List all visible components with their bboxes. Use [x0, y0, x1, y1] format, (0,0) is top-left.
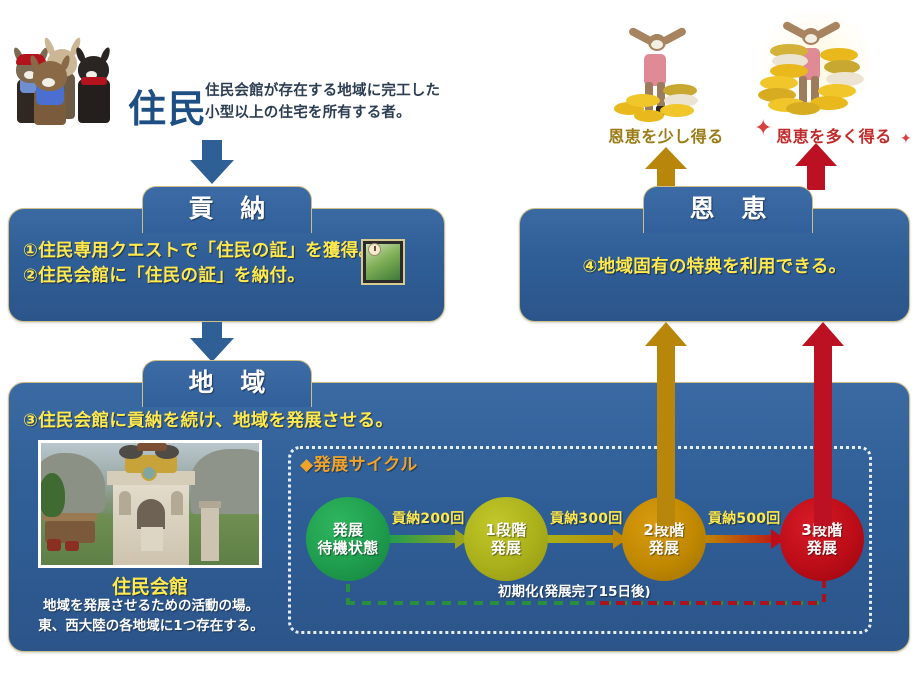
cycle-node-stage2-line2: 発展: [643, 539, 684, 557]
hall-description-line2: 東、西大陸の各地域に1つ存在する。: [26, 616, 276, 636]
mascot-brown: [28, 55, 72, 125]
resident-mascots-image: [6, 30, 146, 125]
residents-description-line2: 小型以上の住宅を所有する者。: [205, 102, 450, 124]
arrow-benefit-to-large-reward: [795, 143, 837, 190]
region-step-3: ③住民会館に貢納を続け、地域を発展させる。: [23, 409, 623, 434]
section-header-region: 地 域: [142, 360, 312, 407]
tribute-step-1: ①住民専用クエストで「住民の証」を獲得。: [23, 239, 383, 264]
cycle-reset-line-red: [600, 601, 824, 605]
hall-description: 地域を発展させるための活動の場。 東、西大陸の各地域に1つ存在する。: [26, 596, 276, 637]
benefit-step-4: ④地域固有の特典を利用できる。: [520, 255, 909, 280]
residents-description: 住民会館が存在する地域に完工した 小型以上の住宅を所有する者。: [205, 80, 450, 125]
arrow-tribute-to-region: [190, 322, 234, 362]
infographic-root: 住民 住民会館が存在する地域に完工した 小型以上の住宅を所有する者。 貢 納 ①…: [0, 0, 918, 673]
cycle-node-stage1-line1: 1段階: [485, 521, 526, 539]
cycle-label-tribute-500: 貢納500回: [708, 508, 780, 528]
small-reward-image: [614, 18, 710, 123]
residents-hall-screenshot: [38, 440, 262, 568]
small-reward-caption: 恩恵を少し得る: [590, 123, 742, 147]
large-reward-image: [748, 6, 880, 124]
hall-title: 住民会館: [38, 572, 262, 599]
residents-description-line1: 住民会館が存在する地域に完工した: [205, 80, 450, 102]
hall-description-line1: 地域を発展させるための活動の場。: [26, 596, 276, 616]
tribute-steps: ①住民専用クエストで「住民の証」を獲得。 ②住民会館に「住民の証」を納付。: [23, 239, 383, 290]
development-cycle-title: ◆発展サイクル: [300, 450, 418, 475]
cycle-node-stage1: 1段階 発展: [464, 497, 548, 581]
cycle-reset-label: 初期化(発展完了15日後): [498, 580, 651, 600]
arrow-stage3-to-benefit: [800, 322, 846, 526]
cycle-node-stage3-line2: 発展: [801, 539, 842, 557]
residents-proof-item-icon: [361, 239, 405, 285]
cycle-label-tribute-200: 貢納200回: [392, 508, 464, 528]
mascot-dark: [72, 47, 116, 123]
cycle-arrow-stage1-to-stage2: [546, 535, 626, 543]
cycle-node-stage1-line2: 発展: [485, 539, 526, 557]
cycle-node-standby: 発展 待機状態: [306, 497, 390, 581]
sparkle-icon-right: ✦: [900, 132, 912, 146]
cycle-node-standby-line1: 発展: [317, 521, 378, 539]
section-header-tribute: 貢 納: [142, 186, 312, 233]
arrow-stage2-to-benefit: [643, 322, 689, 526]
arrow-benefit-to-small-reward: [645, 147, 687, 189]
cycle-arrow-stage2-to-stage3: [704, 535, 784, 543]
tribute-step-2: ②住民会館に「住民の証」を納付。: [23, 264, 383, 289]
section-header-benefit: 恩 恵: [643, 186, 813, 233]
arrow-residents-to-tribute: [190, 140, 234, 184]
cycle-arrow-standby-to-stage1: [388, 535, 468, 543]
cycle-node-standby-line2: 待機状態: [317, 539, 378, 557]
page-title-residents: 住民: [128, 78, 208, 133]
cycle-label-tribute-300: 貢納300回: [550, 508, 622, 528]
